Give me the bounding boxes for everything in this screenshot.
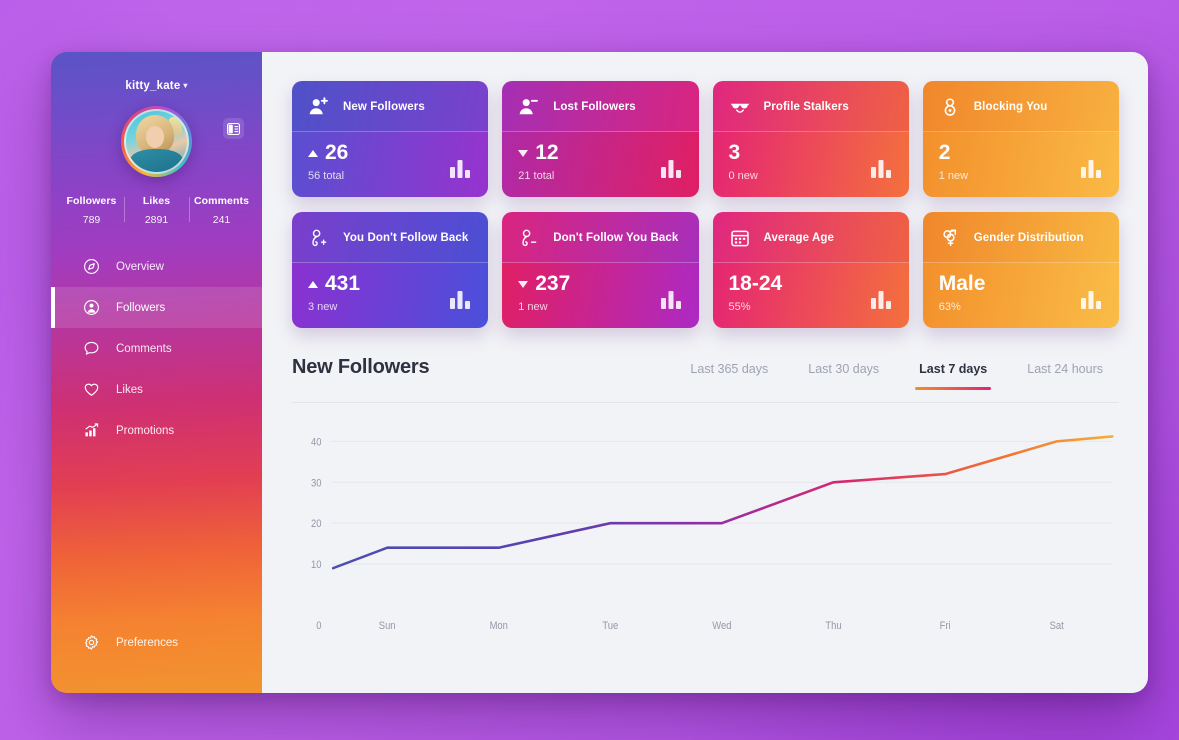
y-tick-label: 40: [311, 436, 322, 449]
bar-chart-up-icon: [83, 422, 100, 439]
sidebar-item-label: Overview: [116, 261, 164, 273]
sidebar-spacer: [51, 451, 262, 618]
card-value: Male: [939, 273, 986, 295]
padlock-icon: [939, 97, 961, 117]
card-body: 237 1 new: [502, 263, 698, 328]
card-value: 18-24: [729, 273, 783, 295]
calendar-icon: [729, 228, 751, 248]
card-subtitle: 0 new: [729, 170, 758, 182]
tab-last-24-hours[interactable]: Last 24 hours: [1027, 362, 1103, 389]
chart-svg: 010203040 SunMonTueWedThuFriSat: [292, 415, 1119, 643]
sidebar-item-comments[interactable]: Comments: [51, 328, 262, 369]
username-dropdown[interactable]: kitty_kate▾: [51, 80, 262, 92]
card-value-row: 12: [518, 142, 558, 164]
sidebar-nav: Overview Followers Comments: [51, 246, 262, 451]
line-chart: 010203040 SunMonTueWedThuFriSat: [292, 415, 1119, 643]
card-title: Lost Followers: [553, 101, 636, 113]
card-figures: 26 56 total: [308, 142, 348, 182]
card-title: Don't Follow You Back: [553, 232, 678, 244]
card-body: 26 56 total: [292, 132, 488, 197]
bar-chart-icon[interactable]: [1079, 156, 1103, 180]
card-body: 18-24 55%: [713, 263, 909, 328]
card-body: 3 0 new: [713, 132, 909, 197]
card-figures: 12 21 total: [518, 142, 558, 182]
comment-icon: [83, 340, 100, 357]
sidebar-nav-bottom: Preferences: [51, 622, 262, 693]
sidebar-item-label: Comments: [116, 343, 172, 355]
main-content: New Followers 26 56 total: [262, 52, 1148, 693]
card-subtitle: 1 new: [518, 301, 570, 313]
card-average-age[interactable]: Average Age 18-24 55%: [713, 212, 909, 328]
gear-icon: [83, 634, 100, 651]
stat-value: 789: [59, 214, 124, 226]
bar-chart-icon[interactable]: [659, 156, 683, 180]
sidebar-item-label: Followers: [116, 302, 165, 314]
x-tick-label: Sun: [379, 619, 396, 632]
sidebar-item-promotions[interactable]: Promotions: [51, 410, 262, 451]
card-value-row: 18-24: [729, 273, 783, 295]
card-value-row: 237: [518, 273, 570, 295]
chart-y-axis-labels: 010203040: [311, 436, 322, 633]
card-body: 431 3 new: [292, 263, 488, 328]
card-header: New Followers: [292, 81, 488, 132]
card-profile-stalkers[interactable]: Profile Stalkers 3 0 new: [713, 81, 909, 197]
card-value: 26: [325, 142, 348, 164]
chart-range-tabs: Last 365 days Last 30 days Last 7 days L…: [690, 362, 1119, 389]
card-title: Blocking You: [974, 101, 1048, 113]
page-title: New Followers: [292, 356, 429, 379]
y-tick-label: 30: [311, 476, 322, 489]
user-circle-icon: [83, 299, 100, 316]
x-tick-label: Tue: [602, 619, 618, 632]
profile-stats: Followers 789 Likes 2891 Comments 241: [51, 195, 262, 242]
chart-line-series: [333, 436, 1112, 568]
card-dont-follow-you-back[interactable]: Don't Follow You Back 237 1 new: [502, 212, 698, 328]
user-minus-filled-icon: [518, 97, 540, 117]
y-tick-label: 10: [311, 558, 322, 571]
trend-up-icon: [308, 150, 318, 157]
username-label: kitty_kate: [125, 80, 180, 92]
card-body: 2 1 new: [923, 132, 1119, 197]
card-header: Gender Distribution: [923, 212, 1119, 263]
card-value: 3: [729, 142, 741, 164]
card-you-dont-follow-back[interactable]: You Don't Follow Back 431 3 new: [292, 212, 488, 328]
card-value: 431: [325, 273, 360, 295]
stat-followers[interactable]: Followers 789: [59, 195, 124, 226]
stat-comments[interactable]: Comments 241: [189, 195, 254, 226]
sidebar-item-preferences[interactable]: Preferences: [51, 622, 262, 663]
heart-icon: [83, 381, 100, 398]
card-value: 12: [535, 142, 558, 164]
card-subtitle: 3 new: [308, 301, 360, 313]
tab-last-365-days[interactable]: Last 365 days: [690, 362, 768, 389]
y-tick-label: 0: [316, 619, 321, 632]
card-title: Profile Stalkers: [764, 101, 849, 113]
card-title: Gender Distribution: [974, 232, 1084, 244]
tab-last-7-days[interactable]: Last 7 days: [919, 362, 987, 389]
stat-label: Followers: [59, 195, 124, 207]
user-plus-filled-icon: [308, 97, 330, 117]
card-subtitle: 63%: [939, 301, 986, 313]
card-title: New Followers: [343, 101, 425, 113]
avatar-image: [124, 109, 189, 174]
sidebar-item-label: Likes: [116, 384, 143, 396]
card-header: Profile Stalkers: [713, 81, 909, 132]
gender-symbols-icon: [939, 228, 961, 248]
x-tick-label: Sat: [1050, 619, 1064, 632]
bar-chart-icon[interactable]: [869, 156, 893, 180]
card-body: 12 21 total: [502, 132, 698, 197]
sidebar-item-likes[interactable]: Likes: [51, 369, 262, 410]
card-figures: Male 63%: [939, 273, 986, 313]
compass-icon: [83, 258, 100, 275]
card-value-row: 26: [308, 142, 348, 164]
disguise-glasses-icon: [729, 97, 751, 117]
user-plus-outline-icon: [308, 228, 330, 248]
bar-chart-icon[interactable]: [448, 287, 472, 311]
card-value-row: 2: [939, 142, 968, 164]
stat-label: Comments: [189, 195, 254, 207]
card-figures: 237 1 new: [518, 273, 570, 313]
card-figures: 3 0 new: [729, 142, 758, 182]
card-title: You Don't Follow Back: [343, 232, 468, 244]
x-tick-label: Fri: [940, 619, 951, 632]
panel-toggle-icon[interactable]: [223, 118, 244, 139]
card-value-row: 431: [308, 273, 360, 295]
trend-down-icon: [518, 281, 528, 288]
card-header: Average Age: [713, 212, 909, 263]
y-tick-label: 20: [311, 517, 322, 530]
bar-chart-icon[interactable]: [1079, 287, 1103, 311]
chart-x-axis-labels: SunMonTueWedThuFriSat: [379, 619, 1064, 632]
avatar[interactable]: [121, 106, 192, 177]
sidebar: kitty_kate▾ Followers 789 Likes 2891 Com…: [51, 52, 262, 693]
chevron-down-icon: ▾: [183, 81, 187, 90]
card-lost-followers[interactable]: Lost Followers 12 21 total: [502, 81, 698, 197]
sidebar-item-label: Promotions: [116, 425, 174, 437]
card-blocking-you[interactable]: Blocking You 2 1 new: [923, 81, 1119, 197]
x-tick-label: Mon: [490, 619, 508, 632]
stats-cards-grid: New Followers 26 56 total: [262, 52, 1148, 328]
stat-value: 241: [189, 214, 254, 226]
trend-up-icon: [308, 281, 318, 288]
card-header: Blocking You: [923, 81, 1119, 132]
user-minus-outline-icon: [518, 228, 540, 248]
x-tick-label: Thu: [825, 619, 841, 632]
card-header: Lost Followers: [502, 81, 698, 132]
card-value: 237: [535, 273, 570, 295]
trend-down-icon: [518, 150, 528, 157]
card-title: Average Age: [764, 232, 835, 244]
card-body: Male 63%: [923, 263, 1119, 328]
card-value-row: Male: [939, 273, 986, 295]
chart-header: New Followers Last 365 days Last 30 days…: [292, 356, 1119, 403]
bar-chart-icon[interactable]: [448, 156, 472, 180]
bar-chart-icon[interactable]: [659, 287, 683, 311]
card-subtitle: 21 total: [518, 170, 558, 182]
avatar-body: [130, 149, 184, 174]
stat-likes[interactable]: Likes 2891: [124, 195, 189, 226]
card-value-row: 3: [729, 142, 758, 164]
avatar-face: [146, 126, 164, 148]
card-subtitle: 55%: [729, 301, 783, 313]
stat-value: 2891: [124, 214, 189, 226]
card-gender-distribution[interactable]: Gender Distribution Male 63%: [923, 212, 1119, 328]
tab-last-30-days[interactable]: Last 30 days: [808, 362, 879, 389]
sidebar-item-followers[interactable]: Followers: [51, 287, 262, 328]
card-value: 2: [939, 142, 951, 164]
card-header: Don't Follow You Back: [502, 212, 698, 263]
card-figures: 2 1 new: [939, 142, 968, 182]
sidebar-item-label: Preferences: [116, 637, 178, 649]
chart-panel: New Followers Last 365 days Last 30 days…: [262, 328, 1148, 643]
x-tick-label: Wed: [712, 619, 731, 632]
card-subtitle: 1 new: [939, 170, 968, 182]
card-figures: 431 3 new: [308, 273, 360, 313]
bar-chart-icon[interactable]: [869, 287, 893, 311]
card-subtitle: 56 total: [308, 170, 348, 182]
app-window: kitty_kate▾ Followers 789 Likes 2891 Com…: [51, 52, 1148, 693]
sidebar-item-overview[interactable]: Overview: [51, 246, 262, 287]
card-new-followers[interactable]: New Followers 26 56 total: [292, 81, 488, 197]
card-figures: 18-24 55%: [729, 273, 783, 313]
stat-label: Likes: [124, 195, 189, 207]
card-header: You Don't Follow Back: [292, 212, 488, 263]
